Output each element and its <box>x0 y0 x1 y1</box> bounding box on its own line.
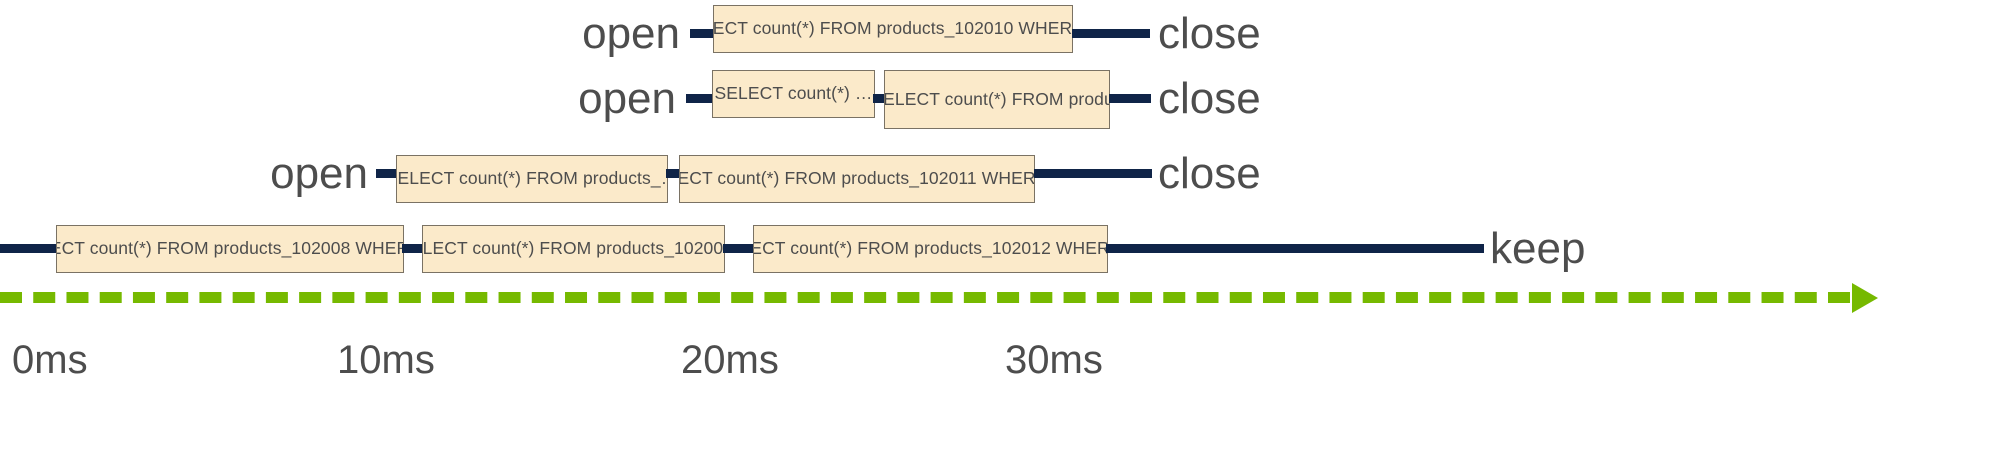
axis-tick-0: 0ms <box>12 340 88 380</box>
lane-4-query-1[interactable]: SELECT count(*) FROM products_102008 WHE… <box>56 225 404 273</box>
lane-1-open-label: open <box>560 12 680 56</box>
lane-3-open-label: open <box>248 152 368 196</box>
lane-4-query-connector-1 <box>402 244 424 253</box>
lane-2-query-2[interactable]: SELECT count(*) FROM produc <box>884 70 1110 129</box>
lane-2-open-label: open <box>556 77 676 121</box>
timeline-diagram: open SELECT count(*) FROM products_10201… <box>0 0 2000 476</box>
lane-1-query-1[interactable]: SELECT count(*) FROM products_102010 WHE… <box>713 5 1073 53</box>
lane-1-close-connector <box>1072 29 1150 38</box>
lane-4-lifeline-end <box>1106 244 1484 253</box>
lane-3-close-label: close <box>1158 152 1318 196</box>
lane-2-open-connector <box>686 94 714 103</box>
axis-tick-2: 20ms <box>681 340 779 380</box>
lane-4-query-connector-2 <box>723 244 755 253</box>
lane-4-lifeline-start <box>0 244 58 253</box>
lane-1-close-label: close <box>1158 12 1318 56</box>
lane-4-keep-label: keep <box>1490 227 1690 271</box>
time-axis-line <box>0 292 1850 303</box>
lane-3-close-connector <box>1034 169 1152 178</box>
lane-2-query-1[interactable]: SELECT count(*) … <box>712 70 875 118</box>
axis-tick-1: 10ms <box>337 340 435 380</box>
axis-tick-3: 30ms <box>1005 340 1103 380</box>
lane-4-query-2[interactable]: SELECT count(*) FROM products_102009 .. <box>422 225 725 273</box>
lane-2-close-label: close <box>1158 77 1318 121</box>
lane-3-query-1[interactable]: SELECT count(*) FROM products_… <box>396 155 668 203</box>
lane-3-query-2[interactable]: SELECT count(*) FROM products_102011 WHE… <box>679 155 1035 203</box>
lane-2-close-connector <box>1109 94 1151 103</box>
lane-4-query-3[interactable]: SELECT count(*) FROM products_102012 WHE… <box>753 225 1108 273</box>
time-axis-arrow-icon <box>1852 283 1878 313</box>
